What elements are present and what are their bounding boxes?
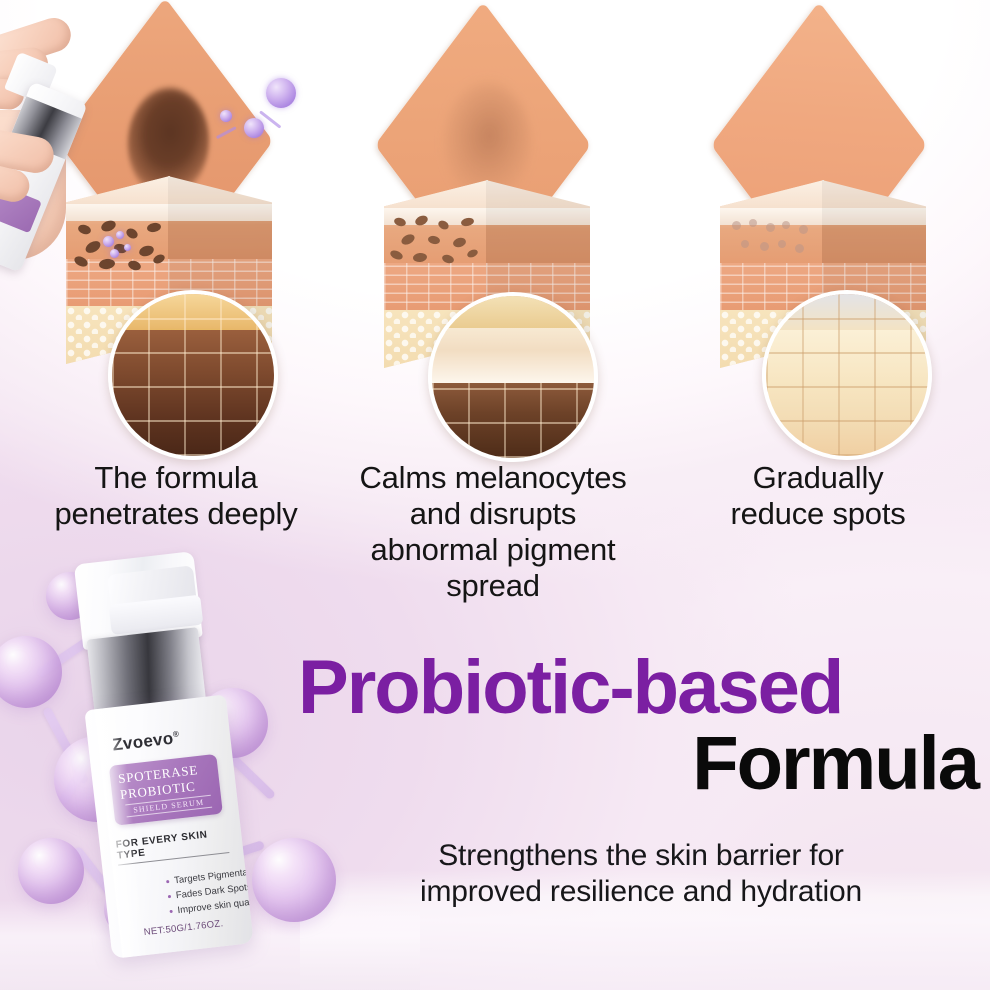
magnified-inset-2 [428,292,598,462]
caption-panel-3: Gradually reduce spots [668,460,968,532]
product-poster: The formula penetrates deeply Calms mela… [0,0,990,990]
panel-deep-penetration [0,0,328,460]
caption-panel-1: The formula penetrates deeply [26,460,326,532]
skin-panels-row [0,0,990,460]
skin-block-illustration-3 [712,62,927,312]
hand-holding-serum [0,24,158,274]
panel-calm-melanocytes [318,0,648,460]
caption-panel-2: Calms melanocytes and disrupts abnormal … [328,460,658,604]
headline-line-1: Probiotic-based [298,652,978,724]
magnified-inset-1 [108,290,278,460]
subheadline-block: Strengthens the skin barrier for improve… [300,838,982,910]
molecule-sphere [0,636,62,708]
skin-block-illustration-2 [376,62,591,312]
panel-reduce-spots [650,0,980,460]
subheadline-line-1: Strengthens the skin barrier for [300,838,982,874]
brand-name: Zvoevo® [111,728,180,756]
molecule-sphere [18,838,84,904]
subheadline-line-2: improved resilience and hydration [300,874,982,910]
bottle-body: Zvoevo® SPOTERASE PROBIOTIC SHIELD SERUM… [84,694,253,958]
headline-block: Probiotic-based Formula [298,652,978,802]
skin-type-text: FOR EVERY SKIN TYPE [115,827,229,866]
benefits-list: Targets Pigmentation Fades Dark Spots Im… [125,860,253,926]
magnified-inset-3 [762,290,932,460]
headline-line-2: Formula [298,726,978,802]
product-label-box: SPOTERASE PROBIOTIC SHIELD SERUM [109,754,223,826]
